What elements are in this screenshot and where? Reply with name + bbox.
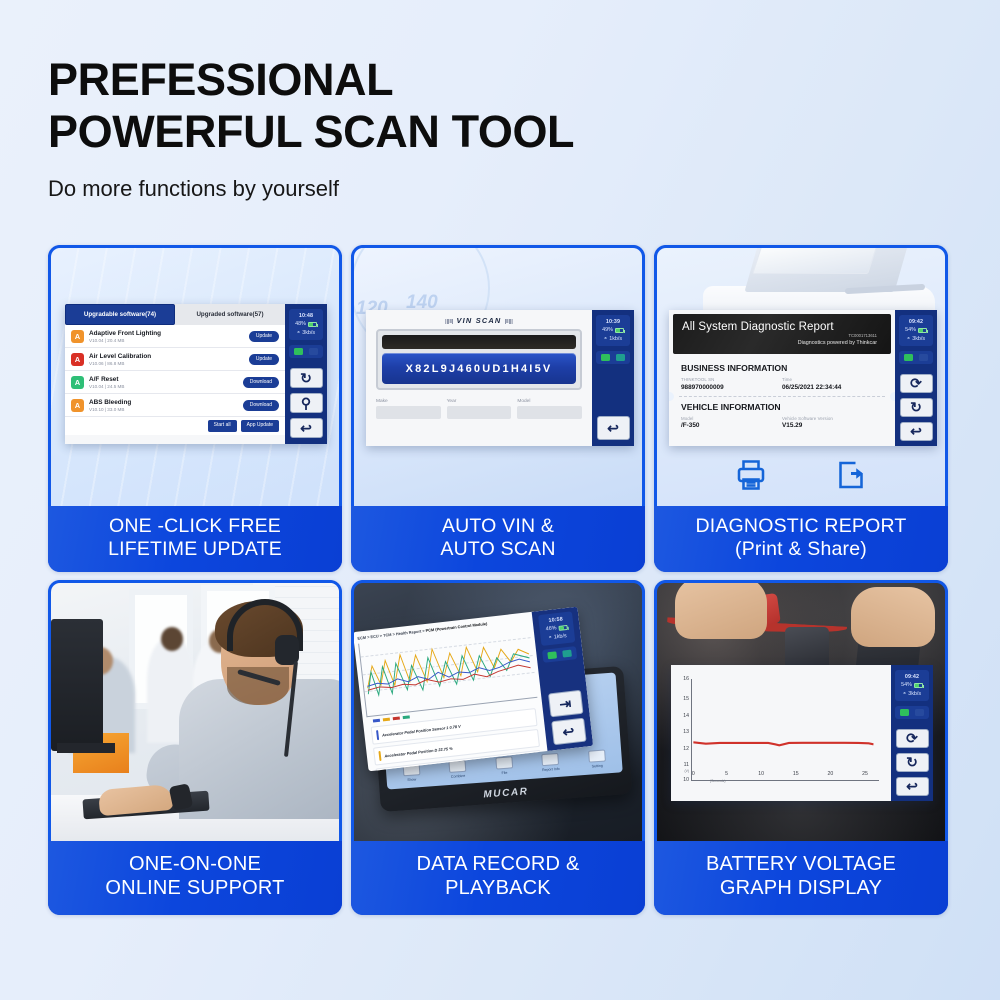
refresh-icon[interactable]: ↻ xyxy=(290,368,323,388)
device-screen-update: Upgradable software(74) Upgraded softwar… xyxy=(65,304,327,444)
software-row[interactable]: A Air Level Calibration V10.06 | 86.8 MB… xyxy=(65,348,285,371)
item-label: Accelerator Pedal Position D 22.75 % xyxy=(384,745,453,758)
software-meta: V10.04 | 24.5 MB xyxy=(89,384,238,389)
device-rail-report: 09:42 54% ◓ 3kb/s xyxy=(895,310,937,446)
software-name: A/F Reset xyxy=(89,376,238,383)
model-label: Model xyxy=(517,399,582,404)
status-panel: 10:48 48% ◓ 3kb/s xyxy=(289,309,323,340)
playback-panel: ECM > ECU > TCM > Health Report > PCM (P… xyxy=(353,607,593,772)
network-indicator: ◓ 3kb/s xyxy=(289,329,323,338)
app-badge-icon: A xyxy=(71,376,84,389)
setting-icon-label: Setting xyxy=(582,763,612,769)
left-hand xyxy=(675,580,767,639)
card-media-update: Upgradable software(74) Upgraded softwar… xyxy=(48,245,342,506)
battery-indicator: 49% xyxy=(596,326,630,334)
model-field[interactable]: Model xyxy=(517,399,582,419)
status-time: 10:39 xyxy=(596,318,630,326)
report-serial: TC0001713611 xyxy=(848,333,877,338)
wifi-icon: ◓ xyxy=(604,335,607,344)
feature-card-data-record-playback[interactable]: Show Combine File Report Info xyxy=(351,580,645,915)
report-powered-by: Diagnostics powered by Thinkcar xyxy=(798,340,877,346)
report-title: All System Diagnostic Report xyxy=(682,321,882,333)
bluetooth-icon[interactable] xyxy=(904,354,913,361)
make-input[interactable] xyxy=(376,406,441,419)
device-screen-battery: 16 15 14 13 12 11 10 (V) xyxy=(671,665,933,801)
x-tick-0: 0 xyxy=(692,771,695,777)
caption-auto-vin-scan: AUTO VIN & AUTO SCAN xyxy=(351,506,645,572)
caption-line-2: (Print & Share) xyxy=(735,538,867,561)
quick-icons[interactable] xyxy=(289,345,323,358)
tab-upgraded-software[interactable]: Upgraded software(57) xyxy=(175,304,285,325)
software-name: ABS Bleeding xyxy=(89,399,238,406)
page-header: PREFESSIONAL POWERFUL SCAN TOOL Do more … xyxy=(48,54,928,202)
y-tick-14: 14 xyxy=(683,713,689,719)
status-panel: 10:58 46% ◓ 1kb/s xyxy=(538,611,575,646)
vin-screen-body: |||‖| VIN SCAN |‖||| X82L9J460UD1H4I5V M… xyxy=(366,310,592,446)
wifi-icon: ◓ xyxy=(548,634,552,643)
wifi-icon: ◓ xyxy=(297,329,300,338)
back-icon[interactable]: ↩ xyxy=(900,422,933,441)
make-label: Make xyxy=(376,399,441,404)
battery-chart-body: 16 15 14 13 12 11 10 (V) xyxy=(671,665,891,801)
x-tick-5: 5 xyxy=(725,771,728,777)
battery-percent: 49% xyxy=(602,326,613,334)
vci-icon[interactable] xyxy=(919,354,928,361)
field-vehicle-software-version: Vehicle Software Version V15.29 xyxy=(782,416,883,430)
file-icon-label: File xyxy=(489,770,519,776)
playback-chart-area: ECM > ECU > TCM > Health Report > PCM (P… xyxy=(353,612,548,771)
year-input[interactable] xyxy=(447,406,512,419)
app-badge-icon: A xyxy=(71,353,84,366)
software-info: Adaptive Front Lighting V10.04 | 20.4 MB xyxy=(89,330,244,343)
download-button[interactable]: Download xyxy=(243,377,279,388)
wifi-icon: ◓ xyxy=(907,335,910,344)
update-button[interactable]: Update xyxy=(249,354,279,365)
model-label: Model xyxy=(681,416,782,421)
year-field[interactable]: Year xyxy=(447,399,512,419)
network-speed: 3kb/s xyxy=(912,335,925,343)
report-actions xyxy=(657,457,945,498)
card-media-battery-graph: 16 15 14 13 12 11 10 (V) xyxy=(654,580,948,841)
caption-line-1: AUTO VIN & xyxy=(442,515,554,538)
tab-upgradable-software[interactable]: Upgradable software(74) xyxy=(65,304,175,325)
item-label: Accelerator Pedal Position Sensor 1 0.78… xyxy=(382,723,461,737)
quick-icons[interactable] xyxy=(596,351,630,364)
battery-indicator: 54% xyxy=(895,681,929,689)
battery-percent: 48% xyxy=(295,320,306,328)
refresh-icon[interactable]: ↻ xyxy=(900,398,933,417)
caption-battery-voltage-graph: BATTERY VOLTAGE GRAPH DISPLAY xyxy=(654,841,948,915)
caption-line-1: ONE -CLICK FREE xyxy=(109,515,281,538)
vci-icon[interactable] xyxy=(915,709,924,716)
vin-scanner-strip xyxy=(382,335,576,349)
software-name: Adaptive Front Lighting xyxy=(89,330,244,337)
vehicle-fields: Make Year Model xyxy=(376,399,582,419)
vehicle-software-version-value: V15.29 xyxy=(782,422,883,429)
vehicle-software-version-label: Vehicle Software Version xyxy=(782,416,883,421)
refresh-icon[interactable]: ↻ xyxy=(896,753,929,772)
software-info: Air Level Calibration V10.06 | 86.8 MB xyxy=(89,353,244,366)
vci-icon[interactable] xyxy=(309,348,318,355)
time-value: 06/25/2021 22:34:44 xyxy=(782,384,883,391)
quick-icons[interactable] xyxy=(895,706,929,719)
software-row[interactable]: A A/F Reset V10.04 | 24.5 MB Download xyxy=(65,371,285,394)
printer-icon[interactable] xyxy=(732,457,770,498)
caption-online-support: ONE-ON-ONE ONLINE SUPPORT xyxy=(48,841,342,915)
bluetooth-icon[interactable] xyxy=(547,652,557,660)
page-subtitle: Do more functions by yourself xyxy=(48,176,928,202)
field-model: Model /F-350 xyxy=(681,416,782,430)
headline-line-2: POWERFUL SCAN TOOL xyxy=(48,106,928,158)
vehicle-information-section: VEHICLE INFORMATION Model /F-350 Vehicle… xyxy=(669,397,895,430)
share-icon[interactable] xyxy=(832,457,870,498)
caption-line-2: PLAYBACK xyxy=(445,877,551,901)
app-badge-icon: A xyxy=(71,399,84,412)
battery-icon xyxy=(914,683,923,688)
battery-percent: 54% xyxy=(901,681,912,689)
time-label: Time xyxy=(782,377,883,382)
back-icon[interactable]: ↩ xyxy=(290,418,323,438)
agent-beard xyxy=(227,667,289,705)
network-speed: 1kb/s xyxy=(553,632,567,642)
battery-indicator: 48% xyxy=(289,320,323,328)
year-label: Year xyxy=(447,399,512,404)
report-screen-body: All System Diagnostic Report TC000171361… xyxy=(669,310,895,446)
card-media-data-record: Show Combine File Report Info xyxy=(351,580,645,841)
app-badge-icon: A xyxy=(71,330,84,343)
y-tick-13: 13 xyxy=(683,729,689,735)
network-speed: 1kb/s xyxy=(609,335,622,343)
status-time: 09:42 xyxy=(895,673,929,681)
feature-card-auto-vin-scan[interactable]: 120 140 160 km/h |||‖| VIN SCAN |‖||| X8… xyxy=(351,245,645,572)
y-tick-12: 12 xyxy=(683,746,689,752)
card-media-support-photo xyxy=(48,580,342,841)
software-info: ABS Bleeding V10.10 | 33.0 MB xyxy=(89,399,238,412)
device-rail-vin: 10:39 49% ◓ 1kb/s xyxy=(592,310,634,446)
network-indicator: ◓ 3kb/s xyxy=(899,335,933,344)
battery-icon xyxy=(918,328,927,333)
battery-voltage-chart: 16 15 14 13 12 11 10 (V) xyxy=(671,665,891,801)
business-information-section: BUSINESS INFORMATION THINKTOOL SN 988970… xyxy=(669,358,895,391)
item-color-swatch xyxy=(376,730,380,740)
chart-plot-area: 0 5 10 15 20 25 (Seconds) xyxy=(691,679,879,781)
model-input[interactable] xyxy=(517,406,582,419)
page-title: PREFESSIONAL POWERFUL SCAN TOOL xyxy=(48,54,928,158)
combine-icon-label: Combine xyxy=(443,773,473,779)
vehicle-information-heading: VEHICLE INFORMATION xyxy=(681,402,883,412)
quick-icons[interactable] xyxy=(899,351,933,364)
status-time: 09:42 xyxy=(899,318,933,326)
device-rail-battery: 09:42 54% ◓ 3kb/s xyxy=(891,665,933,801)
bluetooth-icon[interactable] xyxy=(601,354,610,361)
model-value: /F-350 xyxy=(681,422,782,429)
setting-icon-glyph xyxy=(588,750,606,763)
bluetooth-icon[interactable] xyxy=(294,348,303,355)
report-icon[interactable]: Report Info xyxy=(535,752,566,772)
battery-icon xyxy=(615,328,624,333)
battery-voltage-line xyxy=(692,679,879,780)
vci-icon[interactable] xyxy=(563,650,573,658)
battery-percent: 54% xyxy=(905,326,916,334)
feature-card-online-support[interactable]: ONE-ON-ONE ONLINE SUPPORT xyxy=(48,580,342,915)
quick-icons[interactable] xyxy=(542,646,577,663)
status-panel: 09:42 54% ◓ 3kb/s xyxy=(895,670,929,701)
update-tabs: Upgradable software(74) Upgraded softwar… xyxy=(65,304,285,325)
vci-icon[interactable] xyxy=(616,354,625,361)
y-axis-unit: (V) xyxy=(684,769,689,773)
y-axis: 16 15 14 13 12 11 10 (V) xyxy=(675,675,691,781)
wifi-icon: ◓ xyxy=(903,690,906,699)
vin-scan-title: |||‖| VIN SCAN |‖||| xyxy=(366,310,592,329)
file-icon-glyph xyxy=(495,756,513,769)
card-media-vin: 120 140 160 km/h |||‖| VIN SCAN |‖||| X8… xyxy=(351,245,645,506)
rail-spacer xyxy=(561,665,564,688)
upload-icon[interactable]: ⟳ xyxy=(896,729,929,748)
battery-indicator: 54% xyxy=(899,326,933,334)
software-row[interactable]: A Adaptive Front Lighting V10.04 | 20.4 … xyxy=(65,325,285,348)
report-hero: All System Diagnostic Report TC000171361… xyxy=(673,314,891,354)
status-panel: 09:42 54% ◓ 3kb/s xyxy=(899,315,933,346)
y-tick-11: 11 xyxy=(684,762,689,768)
business-information-heading: BUSINESS INFORMATION xyxy=(681,363,883,373)
back-icon[interactable]: ↩ xyxy=(896,777,929,796)
device-rail-update: 10:48 48% ◓ 3kb/s xyxy=(285,304,327,444)
update-footer: Start all App Update xyxy=(65,417,285,435)
update-button[interactable]: Update xyxy=(249,331,279,342)
chart-inner: 16 15 14 13 12 11 10 (V) xyxy=(675,675,883,795)
caption-line-1: DIAGNOSTIC REPORT xyxy=(695,515,906,538)
caption-line-2: GRAPH DISPLAY xyxy=(720,877,882,901)
software-meta: V10.10 | 33.0 MB xyxy=(89,407,238,412)
make-field[interactable]: Make xyxy=(376,399,441,419)
exit-icon[interactable]: ⇥ xyxy=(547,690,583,718)
report-perforation-divider xyxy=(679,396,885,397)
caption-line-2: LIFETIME UPDATE xyxy=(108,538,282,561)
vin-scan-label: VIN SCAN xyxy=(457,316,502,325)
vin-value: X82L9J460UD1H4I5V xyxy=(382,353,576,384)
report-icon-glyph xyxy=(541,753,559,766)
search-icon[interactable]: ⚲ xyxy=(290,393,323,413)
thinktool-sn-label: THINKTOOL SN xyxy=(681,377,782,382)
caption-data-record-playback: DATA RECORD & PLAYBACK xyxy=(351,841,645,915)
caption-line-1: ONE-ON-ONE xyxy=(129,853,261,877)
feature-grid: Upgradable software(74) Upgraded softwar… xyxy=(48,245,950,915)
update-screen-body: Upgradable software(74) Upgraded softwar… xyxy=(65,304,285,444)
show-icon-label: Show xyxy=(397,777,427,783)
caption-line-2: AUTO SCAN xyxy=(440,538,555,561)
software-name: Air Level Calibration xyxy=(89,353,244,360)
network-indicator: ◓ 3kb/s xyxy=(895,690,929,699)
file-icon[interactable]: File xyxy=(488,756,519,776)
x-axis-unit: (Seconds) xyxy=(710,779,725,783)
software-meta: V10.06 | 86.8 MB xyxy=(89,361,244,366)
caption-one-click-update: ONE -CLICK FREE LIFETIME UPDATE xyxy=(48,506,342,572)
card-media-report: All System Diagnostic Report TC000171361… xyxy=(654,245,948,506)
software-row[interactable]: A ABS Bleeding V10.10 | 33.0 MB Download xyxy=(65,394,285,417)
barcode-left-icon: |||‖| xyxy=(445,319,453,325)
battery-icon xyxy=(308,322,317,327)
report-icon-label: Report Info xyxy=(536,766,566,772)
feature-card-diagnostic-report[interactable]: All System Diagnostic Report TC000171361… xyxy=(654,245,948,572)
vin-display-frame: X82L9J460UD1H4I5V xyxy=(376,329,582,390)
status-panel: 10:39 49% ◓ 1kb/s xyxy=(596,315,630,346)
software-meta: V10.04 | 20.4 MB xyxy=(89,338,244,343)
x-tick-10: 10 xyxy=(758,771,764,777)
caption-line-1: BATTERY VOLTAGE xyxy=(706,853,896,877)
vehicle-fields: Model /F-350 Vehicle Software Version V1… xyxy=(681,416,883,430)
y-tick-10: 10 xyxy=(683,777,689,783)
feature-card-battery-voltage-graph[interactable]: 16 15 14 13 12 11 10 (V) xyxy=(654,580,948,915)
upload-icon[interactable]: ⟳ xyxy=(900,374,933,393)
app-update-button[interactable]: App Update xyxy=(241,420,279,432)
caption-line-2: ONLINE SUPPORT xyxy=(105,877,284,901)
headline-line-1: PREFESSIONAL xyxy=(48,54,928,106)
x-tick-25: 25 xyxy=(862,771,868,777)
start-all-button[interactable]: Start all xyxy=(208,420,237,432)
network-indicator: ◓ 1kb/s xyxy=(596,335,630,344)
software-info: A/F Reset V10.04 | 24.5 MB xyxy=(89,376,238,389)
feature-card-one-click-update[interactable]: Upgradable software(74) Upgraded softwar… xyxy=(48,245,342,572)
device-screen-vin: |||‖| VIN SCAN |‖||| X82L9J460UD1H4I5V M… xyxy=(366,310,634,446)
back-icon[interactable]: ↩ xyxy=(597,416,630,440)
network-speed: 3kb/s xyxy=(302,329,315,337)
field-time: Time 06/25/2021 22:34:44 xyxy=(782,377,883,391)
caption-diagnostic-report: DIAGNOSTIC REPORT (Print & Share) xyxy=(654,506,948,572)
pcm-chart-svg xyxy=(359,624,537,716)
item-color-swatch xyxy=(378,751,382,761)
computer-monitor xyxy=(51,619,103,751)
x-tick-20: 20 xyxy=(827,771,833,777)
status-time: 10:48 xyxy=(289,312,323,320)
y-tick-16: 16 xyxy=(683,676,689,682)
monitor-stand xyxy=(57,743,115,753)
caption-line-1: DATA RECORD & xyxy=(417,853,580,877)
network-speed: 3kb/s xyxy=(908,690,921,698)
download-button[interactable]: Download xyxy=(243,400,279,411)
barcode-right-icon: |‖||| xyxy=(505,319,513,325)
device-screen-report: All System Diagnostic Report TC000171361… xyxy=(669,310,937,446)
background-person-head xyxy=(161,627,183,651)
bluetooth-icon[interactable] xyxy=(900,709,909,716)
setting-icon[interactable]: Setting xyxy=(581,749,612,769)
x-tick-15: 15 xyxy=(793,771,799,777)
y-tick-15: 15 xyxy=(683,696,689,702)
printer-paper-tray xyxy=(752,245,878,274)
right-hand xyxy=(851,587,935,647)
field-thinktool-sn: THINKTOOL SN 988970000009 xyxy=(681,377,782,391)
business-fields: THINKTOOL SN 988970000009 Time 06/25/202… xyxy=(681,377,883,391)
back-icon[interactable]: ↩ xyxy=(551,718,587,746)
office-photo xyxy=(51,583,339,841)
thinktool-sn-value: 988970000009 xyxy=(681,384,782,391)
battery-icon xyxy=(558,625,568,631)
